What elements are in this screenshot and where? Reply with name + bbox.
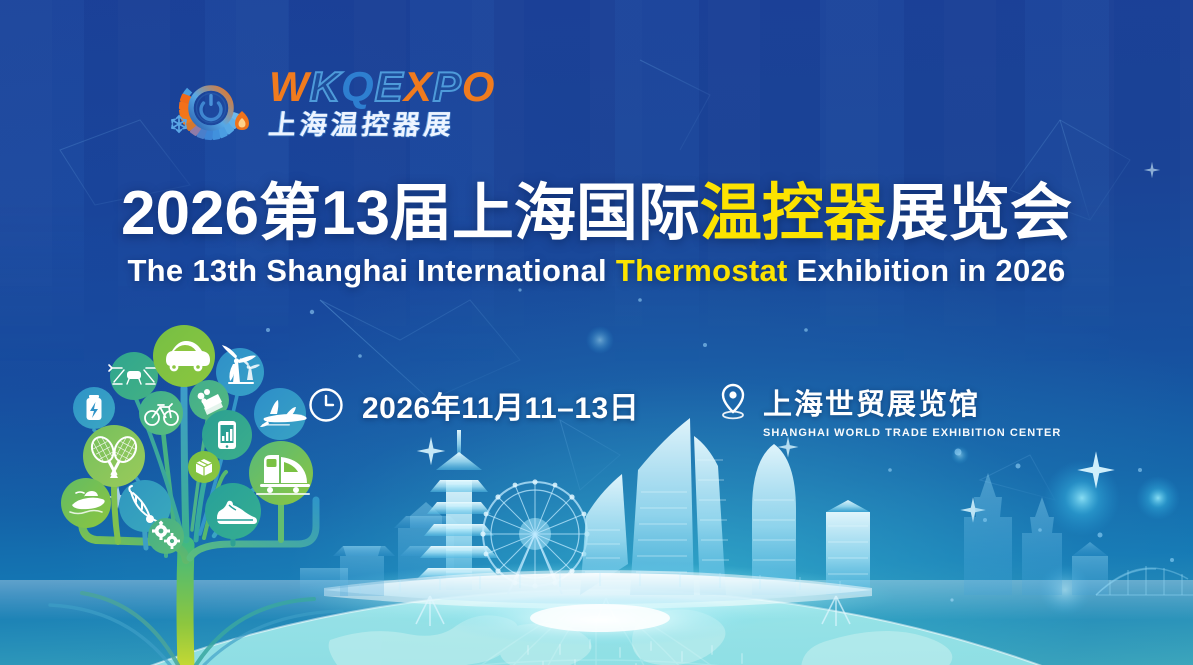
logo-chinese-text: 上海温控器展 [267,112,497,139]
logo-letter-q: Q [341,66,375,108]
event-info-row: 2026年11月11–13日 上海世贸展览馆 SHANGHAI WORLD TR… [0,383,1193,445]
thermostat-dial-logo [163,62,259,144]
map-pin-icon [716,381,750,423]
car-icon [153,325,215,387]
logo-letter-x: X [404,66,433,108]
event-venue-group: 上海世贸展览馆 SHANGHAI WORLD TRADE EXHIBITION … [716,381,1061,439]
event-logo[interactable]: W K Q E X P O 上海温控器展 [163,62,495,144]
title-english-post: Exhibition in 2026 [788,253,1066,288]
clock-icon [307,386,345,424]
title-english-highlight: Thermostat [616,253,788,288]
logo-letter-k: K [310,66,341,108]
logo-letter-p: P [433,66,462,108]
title-chinese-pre: 2026第13届上海国际 [121,179,700,248]
headline-block: 2026第13届上海国际温控器展览会 The 13th Shanghai Int… [97,182,1097,289]
exhibition-banner: W K Q E X P O 上海温控器展 2026第13届上海国际温控器展览会 … [0,0,1193,665]
event-date-group: 2026年11月11–13日 [307,383,639,427]
venue-name-english: SHANGHAI WORLD TRADE EXHIBITION CENTER [763,427,1061,439]
title-english: The 13th Shanghai International Thermost… [97,253,1097,289]
logo-letter-e: E [375,66,404,108]
logo-wordmark: W K Q E X P O 上海温控器展 [269,67,495,139]
logo-english-text: W K Q E X P O [269,67,495,107]
title-chinese-post: 展览会 [886,179,1072,248]
package-icon [188,451,220,483]
sneaker-icon [205,483,261,539]
title-chinese: 2026第13届上海国际温控器展览会 [97,182,1097,246]
power-button-icon [201,94,221,120]
event-date-text: 2026年11月11–13日 [362,383,639,427]
logo-letter-o: O [462,66,496,108]
title-chinese-highlight: 温控器 [700,179,886,248]
venue-texts: 上海世贸展览馆 SHANGHAI WORLD TRADE EXHIBITION … [763,381,1061,439]
gears-icon [148,518,184,554]
jetski-icon [61,478,111,528]
train-icon [249,441,313,505]
venue-name-chinese: 上海世贸展览馆 [763,381,1061,423]
logo-letter-w: W [269,66,310,108]
title-english-pre: The 13th Shanghai International [127,253,615,288]
